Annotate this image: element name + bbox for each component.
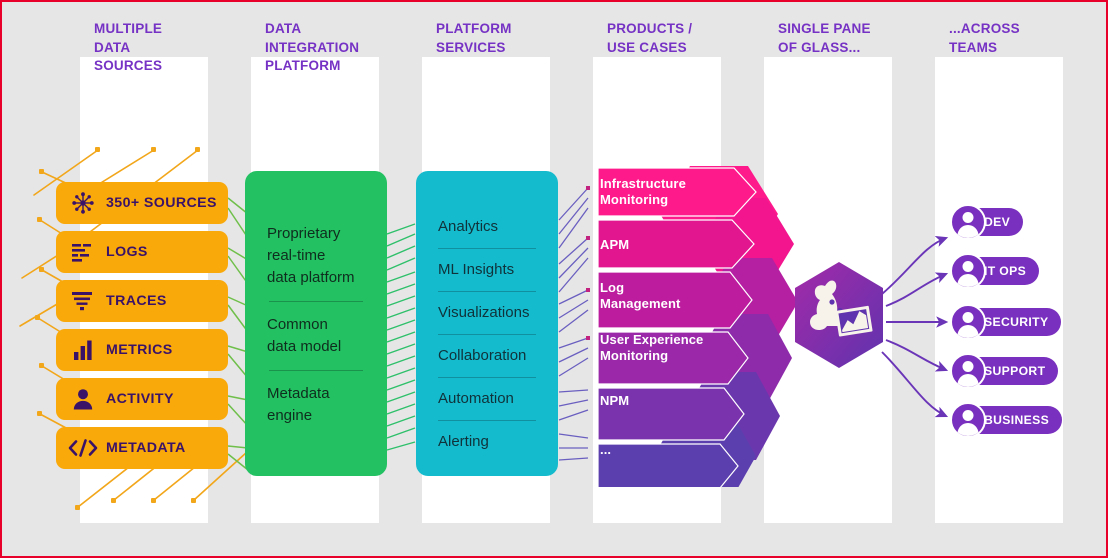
column-header-teams: ...ACROSS TEAMS xyxy=(949,20,1061,57)
divider xyxy=(269,301,363,302)
data-integration-platform-card: Proprietary real-time data platform Comm… xyxy=(245,171,387,476)
service-item-automation: Automation xyxy=(438,389,538,409)
service-item-ml-insights: ML Insights xyxy=(438,260,538,280)
column-header-integration: DATA INTEGRATION PLATFORM xyxy=(265,20,377,76)
person-avatar-icon xyxy=(950,204,986,240)
source-label: ACTIVITY xyxy=(106,391,174,407)
product-label-log-management[interactable]: Log Management xyxy=(600,280,680,312)
source-label: TRACES xyxy=(106,293,167,309)
column-header-pane: SINGLE PANE OF GLASS... xyxy=(778,20,890,57)
integration-item-metadata-engine: Metadata engine xyxy=(267,383,365,427)
service-item-visualizations: Visualizations xyxy=(438,303,538,323)
single-pane-of-glass-logo xyxy=(791,260,887,370)
divider xyxy=(269,370,363,371)
team-label: SECURITY xyxy=(984,315,1048,329)
person-avatar-icon xyxy=(950,353,986,389)
column-header-products: PRODUCTS / USE CASES xyxy=(607,20,719,57)
source-pill-traces[interactable]: TRACES xyxy=(56,280,228,322)
source-pill-logs[interactable]: LOGS xyxy=(56,231,228,273)
traces-funnel-icon xyxy=(66,291,100,311)
person-avatar-icon xyxy=(950,253,986,289)
source-label: METADATA xyxy=(106,440,186,456)
source-label: 350+ SOURCES xyxy=(106,195,217,211)
product-label-more[interactable]: ... xyxy=(600,442,611,458)
source-pill-metadata[interactable]: METADATA xyxy=(56,427,228,469)
platform-to-services-connectors xyxy=(387,224,415,450)
metrics-bars-icon xyxy=(66,339,100,361)
divider xyxy=(438,291,536,292)
product-label-npm[interactable]: NPM xyxy=(600,393,629,409)
sources-burst-icon xyxy=(66,191,100,215)
column-panel-teams xyxy=(935,57,1063,523)
divider xyxy=(438,420,536,421)
person-avatar-icon xyxy=(950,304,986,340)
service-item-alerting: Alerting xyxy=(438,432,538,452)
diagram-stage: MULTIPLE DATA SOURCES DATA INTEGRATION P… xyxy=(2,2,1106,556)
service-item-analytics: Analytics xyxy=(438,217,538,237)
divider xyxy=(438,334,536,335)
service-item-collaboration: Collaboration xyxy=(438,346,538,366)
product-label-infrastructure-monitoring[interactable]: Infrastructure Monitoring xyxy=(600,176,686,208)
activity-person-icon xyxy=(66,388,100,410)
column-header-sources: MULTIPLE DATA SOURCES xyxy=(94,20,206,76)
product-label-apm[interactable]: APM xyxy=(600,237,629,253)
source-label: LOGS xyxy=(106,244,148,260)
column-header-services: PLATFORM SERVICES xyxy=(436,20,548,57)
team-pill-dev[interactable]: DEV xyxy=(952,208,1023,236)
logs-lines-icon xyxy=(66,242,100,262)
source-label: METRICS xyxy=(106,342,173,358)
team-pill-support[interactable]: SUPPORT xyxy=(952,357,1058,385)
integration-item-common-data-model: Common data model xyxy=(267,314,365,358)
team-label: BUSINESS xyxy=(984,413,1049,427)
team-pill-it-ops[interactable]: IT OPS xyxy=(952,257,1039,285)
divider xyxy=(438,377,536,378)
divider xyxy=(438,248,536,249)
platform-services-card: Analytics ML Insights Visualizations Col… xyxy=(416,171,558,476)
team-label: IT OPS xyxy=(984,264,1026,278)
metadata-code-icon xyxy=(66,439,100,457)
source-pill-metrics[interactable]: METRICS xyxy=(56,329,228,371)
team-pill-security[interactable]: SECURITY xyxy=(952,308,1061,336)
team-label: SUPPORT xyxy=(984,364,1045,378)
team-pill-business[interactable]: BUSINESS xyxy=(952,406,1062,434)
integration-item-proprietary: Proprietary real-time data platform xyxy=(267,223,365,289)
person-avatar-icon xyxy=(950,402,986,438)
source-pill-activity[interactable]: ACTIVITY xyxy=(56,378,228,420)
product-label-user-experience[interactable]: User Experience Monitoring xyxy=(600,332,703,364)
source-pill-350-sources[interactable]: 350+ SOURCES xyxy=(56,182,228,224)
team-label: DEV xyxy=(984,215,1010,229)
